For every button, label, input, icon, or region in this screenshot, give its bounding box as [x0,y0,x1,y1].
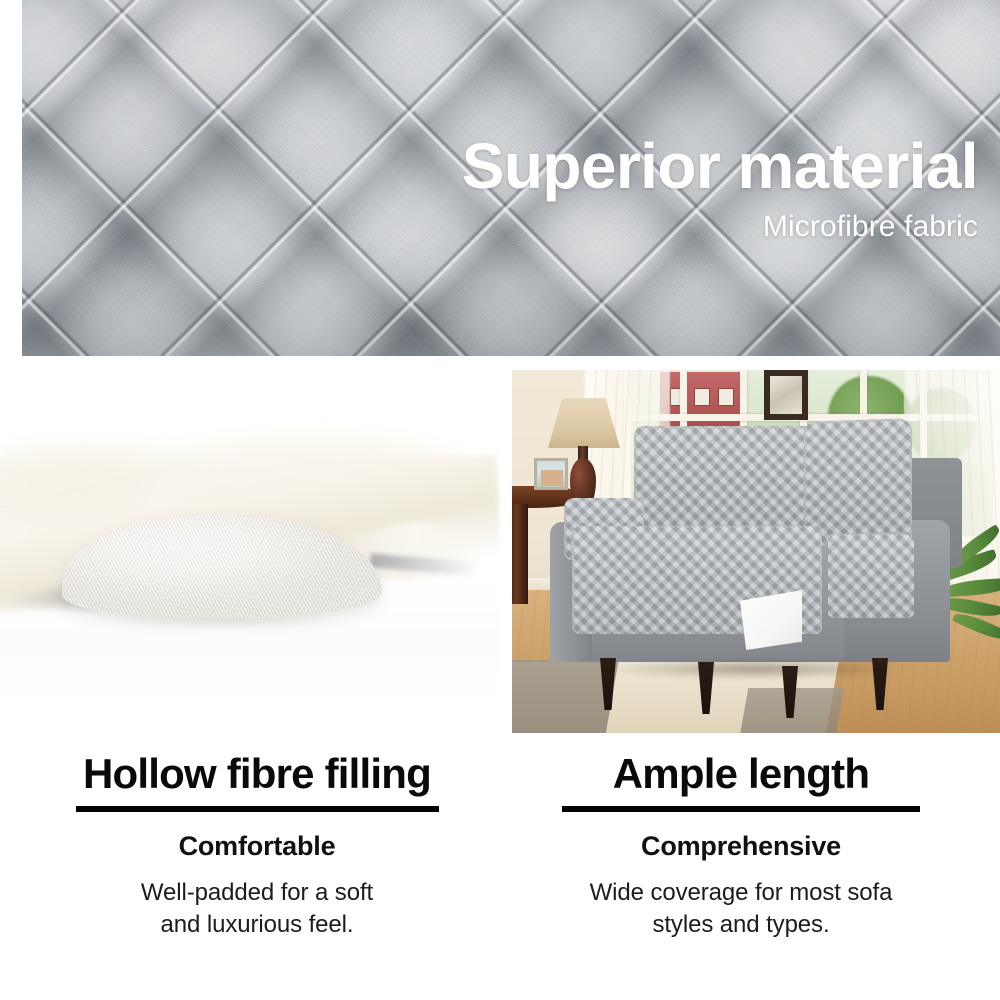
feature-divider-rule [562,806,920,812]
feature-divider-rule [76,806,439,812]
feature-description: Wide coverage for most sofa styles and t… [522,877,960,940]
photo-hollow-fibre-filling [0,372,500,702]
feature-description: Well-padded for a soft and luxurious fee… [36,877,478,940]
table-photo-people [541,470,563,486]
sofa-floor-shadow [556,656,956,682]
feature-block-ample-length: Ample length Comprehensive Wide coverage… [522,752,960,941]
side-table-leg [512,504,528,604]
feature-title: Hollow fibre filling [36,752,478,796]
cover-quilt-texture [828,534,914,618]
feature-block-hollow-fibre-filling: Hollow fibre filling Comfortable Well-pa… [36,752,478,941]
wall-picture-frame [764,370,808,420]
feature-subtitle: Comfortable [36,832,478,862]
hero-banner-microfibre: Superior material Microfibre fabric [22,0,1000,356]
hero-text-block: Superior material Microfibre fabric [462,134,978,242]
hero-subtitle: Microfibre fabric [462,212,978,242]
wall-picture-image [770,376,802,414]
table-photo-frame [534,458,568,490]
feature-blocks: Hollow fibre filling Comfortable Well-pa… [0,752,1000,952]
feature-description-line: and luxurious feel. [36,909,478,941]
sofa-cover-arm-right [828,534,914,618]
feature-description-line: Well-padded for a soft [36,877,478,909]
product-infographic-page: Superior material Microfibre fabric [0,0,1000,1000]
plant-leaf [942,578,1000,598]
feature-description-line: Wide coverage for most sofa [522,877,960,909]
hero-title: Superior material [462,134,978,198]
feature-subtitle: Comprehensive [522,832,960,862]
photo-sofa-room-scene [512,370,1000,733]
feature-title: Ample length [522,752,960,796]
feature-description-line: styles and types. [522,909,960,941]
table-photo-image [537,461,565,487]
